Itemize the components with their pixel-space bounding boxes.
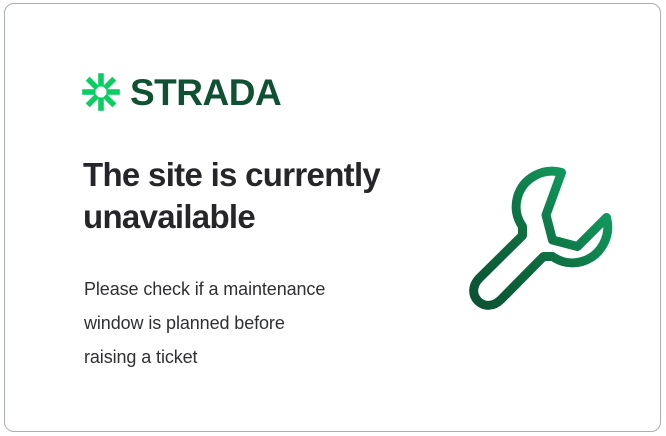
brand-wordmark: STRADA — [130, 74, 281, 111]
page-description: Please check if a maintenance window is … — [84, 272, 404, 374]
status-card-content: STRADA The site is currently unavailable… — [5, 4, 660, 431]
strada-asterisk-icon — [81, 72, 121, 112]
description-line: window is planned before — [84, 306, 404, 340]
status-card: STRADA The site is currently unavailable… — [4, 3, 661, 432]
error-page: STRADA The site is currently unavailable… — [0, 0, 666, 436]
description-line: Please check if a maintenance — [84, 272, 404, 306]
wrench-icon — [457, 152, 627, 322]
brand-lockup: STRADA — [81, 72, 281, 112]
page-title: The site is currently unavailable — [83, 154, 443, 238]
description-line: raising a ticket — [84, 340, 404, 374]
